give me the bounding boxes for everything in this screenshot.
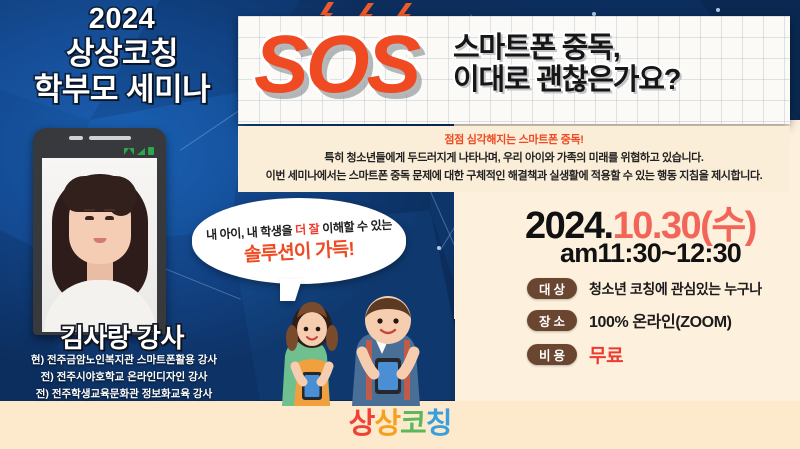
info-tag: 비용 <box>527 344 577 365</box>
info-list: 대상 청소년 코칭에 관심있는 누구나 장소 100% 온라인(ZOOM) 비용… <box>527 278 762 368</box>
children-with-phones-illustration <box>262 296 462 406</box>
seminar-time: am11:30~12:30 <box>560 238 741 269</box>
info-row-place: 장소 100% 온라인(ZOOM) <box>527 308 762 332</box>
poster-title: 2024 상상코칭 학부모 세미나 <box>6 4 238 106</box>
logo-char-1: 상 <box>349 408 375 440</box>
brand-logo: 상상코칭 <box>0 400 800 442</box>
info-value: 100% 온라인(ZOOM) <box>589 308 732 332</box>
title-line-2: 학부모 세미나 <box>6 74 238 107</box>
headline-line-1: 스마트폰 중독, <box>453 32 680 64</box>
description-highlight: 점점 심각해지는 스마트폰 중독! <box>246 132 782 150</box>
network-dot <box>437 246 441 250</box>
info-row-cost: 비용 무료 <box>527 341 762 368</box>
battery-icon <box>148 147 154 155</box>
logo-char-4: 칭 <box>426 408 452 440</box>
phone-speaker <box>69 136 131 140</box>
phone-earpiece <box>89 136 131 140</box>
logo-char-3: 코 <box>400 408 426 440</box>
seminar-poster: 2024 상상코칭 학부모 세미나 <box>0 0 800 449</box>
instructor-credentials: 현) 전주금암노인복지관 스마트폰활용 강사 전) 전주시야호학교 온라인디자인… <box>0 352 248 403</box>
info-value: 무료 <box>589 341 623 368</box>
info-value: 청소년 코칭에 관심있는 누구나 <box>589 279 762 299</box>
phone-camera-icon <box>69 136 83 140</box>
title-line-1: 상상코칭 <box>6 38 238 71</box>
bubble-emphasis: 더 잘 <box>295 222 320 237</box>
headline-text: 스마트폰 중독, 이대로 괜찮은가요? <box>453 32 680 97</box>
title-year: 2024 <box>6 4 238 35</box>
credential-line: 전) 전주시야호학교 온라인디자인 강사 <box>0 369 248 386</box>
instructor-name: 김사랑 강사 <box>0 318 244 355</box>
info-row-target: 대상 청소년 코칭에 관심있는 누구나 <box>527 278 762 299</box>
description-line-1: 특히 청소년들에게 두드러지게 나타나며, 우리 아이와 가족의 미래를 위협하… <box>246 150 782 168</box>
description-box: 점점 심각해지는 스마트폰 중독! 특히 청소년들에게 두드러지게 나타나며, … <box>238 126 790 192</box>
phone-screen <box>42 158 157 332</box>
headline-line-2: 이대로 괜찮은가요? <box>453 64 680 96</box>
network-dot <box>716 8 720 12</box>
signal-icon <box>137 148 145 155</box>
sos-text: SOS <box>254 24 418 106</box>
headline-banner: SOS 스마트폰 중독, 이대로 괜찮은가요? <box>238 16 790 124</box>
phone-mockup <box>33 128 166 335</box>
info-tag: 대상 <box>527 278 577 299</box>
info-tag: 장소 <box>527 310 577 331</box>
credential-line: 현) 전주금암노인복지관 스마트폰활용 강사 <box>0 352 248 369</box>
phone-status-bar <box>124 147 154 155</box>
speech-bubble: 내 아이, 내 학생을 더 잘 이해할 수 있는 솔루션이 가득! <box>192 198 406 284</box>
logo-char-2: 상 <box>374 408 400 440</box>
description-line-2: 이번 세미나에서는 스마트폰 중독 문제에 대한 구체적인 해결책과 실생활에 … <box>246 168 782 186</box>
instructor-photo <box>42 158 157 332</box>
wifi-icon <box>124 148 134 155</box>
